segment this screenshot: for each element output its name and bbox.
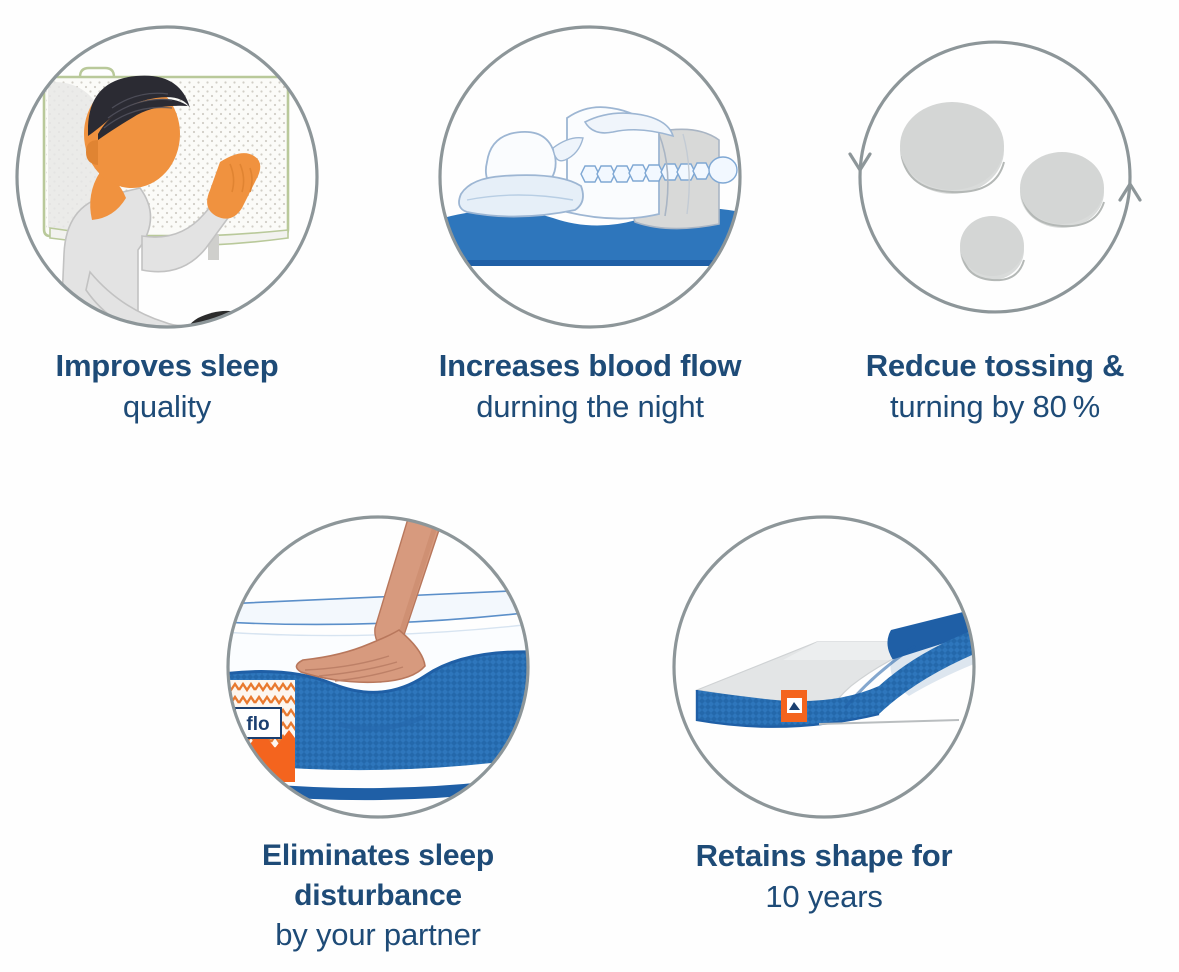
spine-alignment-icon (435, 22, 745, 332)
hand-pressing-mattress-icon: flo (223, 512, 533, 822)
svg-text:flo: flo (246, 714, 269, 735)
caption-line-1: Eliminates sleep disturbance (178, 836, 578, 915)
caption-line-2: turning by 80 % (866, 387, 1125, 428)
feature-increases-blood-flow: Increases blood flow durning the night (420, 22, 760, 428)
feature-caption: Improves sleep quality (56, 346, 279, 428)
caption-line-1: Redcue tossing & (866, 346, 1125, 387)
caption-line-2: durning the night (439, 387, 742, 428)
feature-caption: Increases blood flow durning the night (439, 346, 742, 428)
caption-line-2: 10 years (696, 877, 953, 918)
caption-line-1: Improves sleep (56, 346, 279, 387)
rotating-discs-icon (840, 22, 1150, 332)
feature-eliminates-sleep-disturbance: flo Eliminates sleep disturbance (178, 512, 578, 956)
feature-improves-sleep-quality: Improves sleep quality (8, 22, 326, 428)
feature-retains-shape: Retains shape for 10 years (648, 512, 1000, 918)
feature-caption: Retains shape for 10 years (696, 836, 953, 918)
mattress-curled-corner-icon (669, 512, 979, 822)
feature-caption: Eliminates sleep disturbance by your par… (178, 836, 578, 956)
benefits-infographic: Improves sleep quality (0, 0, 1179, 972)
feature-caption: Redcue tossing & turning by 80 % (866, 346, 1125, 428)
caption-line-1: Retains shape for (696, 836, 953, 877)
caption-line-2: quality (56, 387, 279, 428)
person-on-pillow-icon (12, 22, 322, 332)
caption-line-1: Increases blood flow (439, 346, 742, 387)
feature-reduce-tossing-turning: Redcue tossing & turning by 80 % (830, 22, 1160, 428)
caption-line-2: by your partner (178, 915, 578, 956)
